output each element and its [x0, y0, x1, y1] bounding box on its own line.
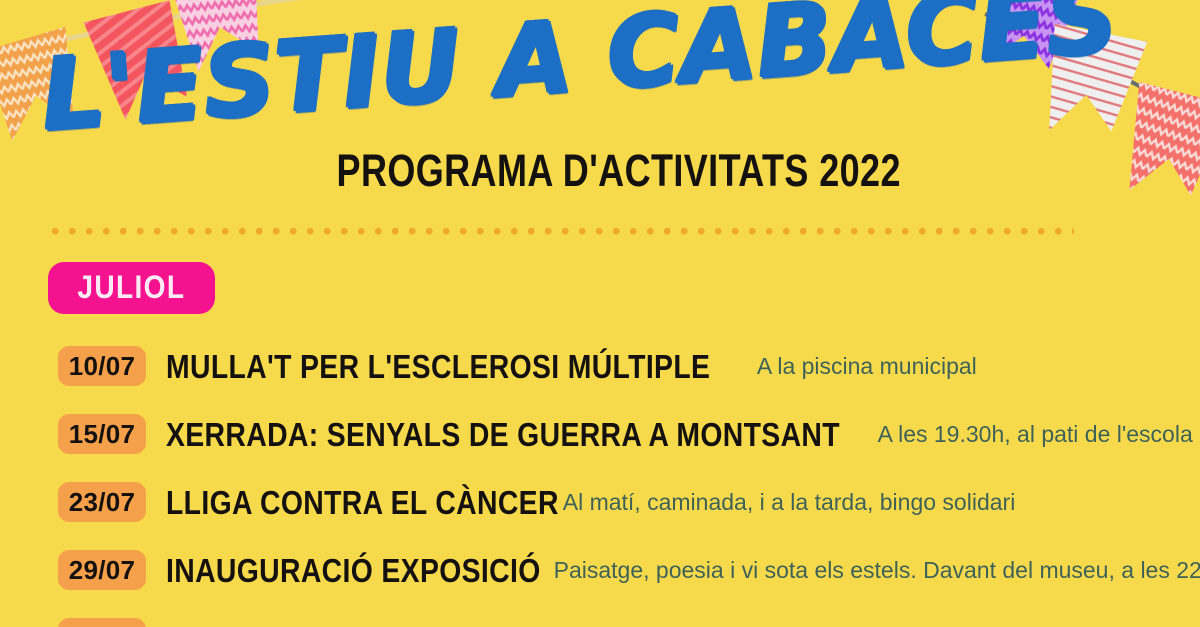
poster-canvas: L'ESTIU A CABACÉS PROGRAMA D'ACTIVITATS … — [0, 0, 1200, 627]
event-description: A la piscina municipal — [757, 355, 977, 378]
event-title: XERRADA: SENYALS DE GUERRA A MONTSANT — [166, 418, 840, 451]
event-date-badge: 29/07 — [58, 550, 146, 590]
event-date-badge: 10/07 — [58, 346, 146, 386]
event-date-badge: 23/07 — [58, 482, 146, 522]
event-description: Al matí, caminada, i a la tarda, bingo s… — [563, 491, 1016, 514]
event-date-badge — [58, 618, 146, 627]
event-title: MULLA'T PER L'ESCLEROSI MÚLTIPLE — [166, 350, 710, 383]
event-title: LLIGA CONTRA EL CÀNCER — [166, 486, 559, 519]
month-badge-juliol: JULIOL — [48, 262, 215, 314]
event-list: 10/07 MULLA'T PER L'ESCLEROSI MÚLTIPLE A… — [0, 345, 1200, 627]
event-row-partial — [0, 617, 1200, 627]
page-title: L'ESTIU A CABACÉS — [39, 0, 1122, 145]
event-row: 23/07 LLIGA CONTRA EL CÀNCER Al matí, ca… — [0, 481, 1200, 523]
dotted-divider — [52, 228, 1074, 236]
title-container: L'ESTIU A CABACÉS — [0, 8, 1200, 106]
event-description: A les 19.30h, al pati de l'escola — [878, 423, 1193, 446]
event-row: 29/07 INAUGURACIÓ EXPOSICIÓ Paisatge, po… — [0, 549, 1200, 591]
page-subtitle: PROGRAMA D'ACTIVITATS 2022 — [337, 148, 901, 193]
poster-header: L'ESTIU A CABACÉS PROGRAMA D'ACTIVITATS … — [0, 0, 1200, 215]
event-date-badge: 15/07 — [58, 414, 146, 454]
event-description: Paisatge, poesia i vi sota els estels. D… — [554, 559, 1200, 582]
month-badge-label: JULIOL — [77, 271, 185, 303]
event-row: 10/07 MULLA'T PER L'ESCLEROSI MÚLTIPLE A… — [0, 345, 1200, 387]
event-row: 15/07 XERRADA: SENYALS DE GUERRA A MONTS… — [0, 413, 1200, 455]
subtitle-container: PROGRAMA D'ACTIVITATS 2022 — [0, 148, 1200, 193]
event-title: INAUGURACIÓ EXPOSICIÓ — [166, 554, 541, 587]
